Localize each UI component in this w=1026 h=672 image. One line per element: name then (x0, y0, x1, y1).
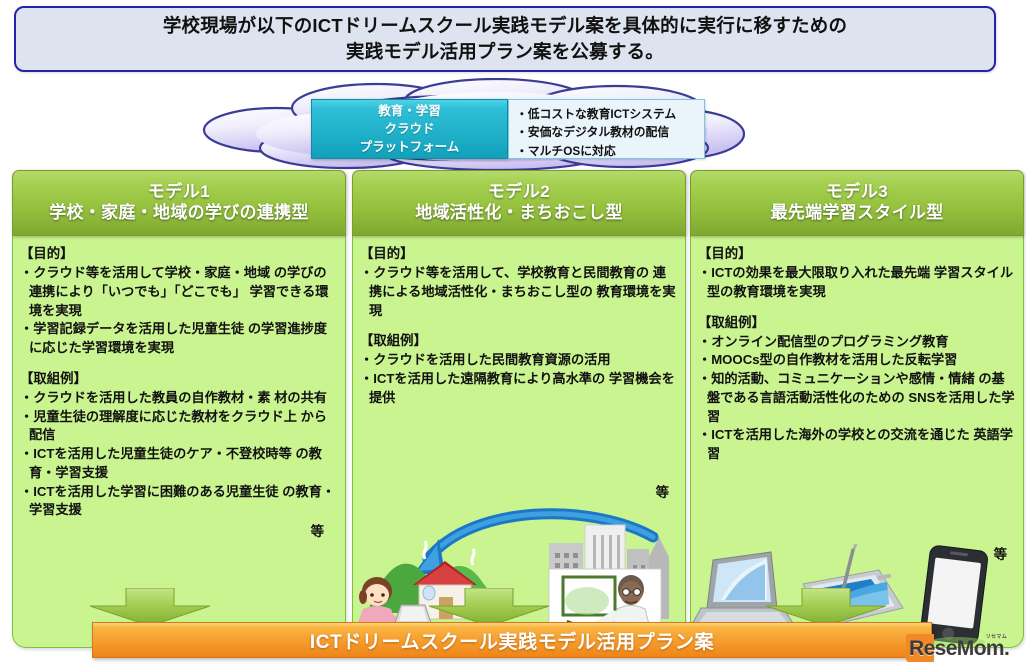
model-2-purpose-label: 【目的】 (360, 244, 678, 264)
model-3-purpose-list: ICTの効果を最大限取り入れた最先端 学習スタイル型の教育環境を実現 (698, 264, 1016, 301)
cloud-feature-item: ・マルチOSに対応 (516, 142, 704, 160)
platform-line-2: クラウド (384, 120, 434, 138)
bottom-bar-label: ICTドリームスクール実践モデル活用プラン案 (310, 627, 714, 654)
bottom-result-bar: ICTドリームスクール実践モデル活用プラン案 (92, 622, 932, 658)
top-banner: 学校現場が以下のICTドリームスクール実践モデル案を具体的に実行に移すための 実… (14, 6, 996, 72)
model-3-title: 最先端学習スタイル型 (771, 202, 944, 224)
banner-text: 学校現場が以下のICTドリームスクール実践モデル案を具体的に実行に移すための 実… (163, 13, 847, 66)
banner-line-2: 実践モデル活用プラン案を公募する。 (163, 39, 847, 65)
list-item: ICTの効果を最大限取り入れた最先端 学習スタイル型の教育環境を実現 (698, 264, 1016, 301)
model-1-body: 【目的】 クラウド等を活用して学校・家庭・地域 の学びの連携により「いつでも」「… (12, 236, 346, 648)
model-2-examples-label: 【取組例】 (360, 331, 678, 351)
model-2-body: 【目的】 クラウド等を活用して、学校教育と民間教育の 連携による地域活性化・まち… (352, 236, 686, 648)
list-item: 児童生徒の理解度に応じた教材をクラウド上 から配信 (20, 408, 338, 445)
model-1-purpose-list: クラウド等を活用して学校・家庭・地域 の学びの連携により「いつでも」「どこでも」… (20, 264, 338, 358)
list-item: MOOCs型の自作教材を活用した反転学習 (698, 351, 1016, 370)
model-2-header: モデル2 地域活性化・まちおこし型 (352, 170, 686, 236)
list-item: オンライン配信型のプログラミング教育 (698, 333, 1016, 352)
list-item: クラウドを活用した民間教育資源の活用 (360, 351, 678, 370)
list-item: 知的活動、コミュニケーションや感情・情緒 の基盤である言語活動活性化のための S… (698, 370, 1016, 426)
watermark-text: ReseMom. (909, 637, 1009, 661)
list-item: クラウド等を活用して、学校教育と民間教育の 連携による地域活性化・まちおこし型の… (360, 264, 678, 320)
model-2-title: 地域活性化・まちおこし型 (415, 202, 623, 224)
banner-line-1: 学校現場が以下のICTドリームスクール実践モデル案を具体的に実行に移すための (163, 13, 847, 39)
cloud-feature-item: ・安価なデジタル教材の配信 (516, 123, 704, 141)
model-1-examples-label: 【取組例】 (20, 369, 338, 389)
model-3-header: モデル3 最先端学習スタイル型 (690, 170, 1024, 236)
model-3-body: 【目的】 ICTの効果を最大限取り入れた最先端 学習スタイル型の教育環境を実現 … (690, 236, 1024, 648)
list-item: ICTを活用した児童生徒のケア・不登校時等 の教育・学習支援 (20, 445, 338, 482)
model-3-number: モデル3 (826, 182, 888, 202)
model-panel-1: モデル1 学校・家庭・地域の学びの連携型 【目的】 クラウド等を活用して学校・家… (12, 170, 346, 648)
cloud-features-box: ・低コストな教育ICTシステム ・安価なデジタル教材の配信 ・マルチOSに対応 (508, 99, 705, 159)
platform-line-3: プラットフォーム (360, 138, 460, 156)
model-3-examples-label: 【取組例】 (698, 313, 1016, 333)
model-2-number: モデル2 (488, 182, 550, 202)
list-item: ICTを活用した遠隔教育により高水準の 学習機会を提供 (360, 370, 678, 407)
cloud-feature-item: ・低コストな教育ICTシステム (516, 105, 704, 123)
model-1-etc: 等 (20, 520, 338, 540)
model-2-examples-list: クラウドを活用した民間教育資源の活用 ICTを活用した遠隔教育により高水準の 学… (360, 351, 678, 407)
model-1-header: モデル1 学校・家庭・地域の学びの連携型 (12, 170, 346, 236)
platform-line-1: 教育・学習 (378, 102, 441, 120)
model-1-title: 学校・家庭・地域の学びの連携型 (49, 202, 309, 224)
model-3-examples-list: オンライン配信型のプログラミング教育 MOOCs型の自作教材を活用した反転学習 … (698, 333, 1016, 464)
list-item: ICTを活用した海外の学校との交流を通じた 英語学習 (698, 426, 1016, 463)
list-item: クラウドを活用した教員の自作教材・素 材の共有 (20, 389, 338, 408)
model-1-examples-list: クラウドを活用した教員の自作教材・素 材の共有 児童生徒の理解度に応じた教材をク… (20, 389, 338, 520)
list-item: 学習記録データを活用した児童生徒 の学習進捗度に応じた学習環境を実現 (20, 320, 338, 357)
list-item: ICTを活用した学習に困難のある児童生徒 の教育・学習支援 (20, 483, 338, 520)
model-panel-2: モデル2 地域活性化・まちおこし型 【目的】 クラウド等を活用して、学校教育と民… (352, 170, 686, 648)
list-item: クラウド等を活用して学校・家庭・地域 の学びの連携により「いつでも」「どこでも」… (20, 264, 338, 320)
model-1-purpose-label: 【目的】 (20, 244, 338, 264)
resemom-watermark: リセマム ReseMom. (906, 632, 1018, 666)
model-panel-3: モデル3 最先端学習スタイル型 【目的】 ICTの効果を最大限取り入れた最先端 … (690, 170, 1024, 648)
cloud-platform-box: 教育・学習 クラウド プラットフォーム (311, 99, 508, 159)
model-3-purpose-label: 【目的】 (698, 244, 1016, 264)
model-2-purpose-list: クラウド等を活用して、学校教育と民間教育の 連携による地域活性化・まちおこし型の… (360, 264, 678, 320)
model-1-number: モデル1 (148, 182, 210, 202)
